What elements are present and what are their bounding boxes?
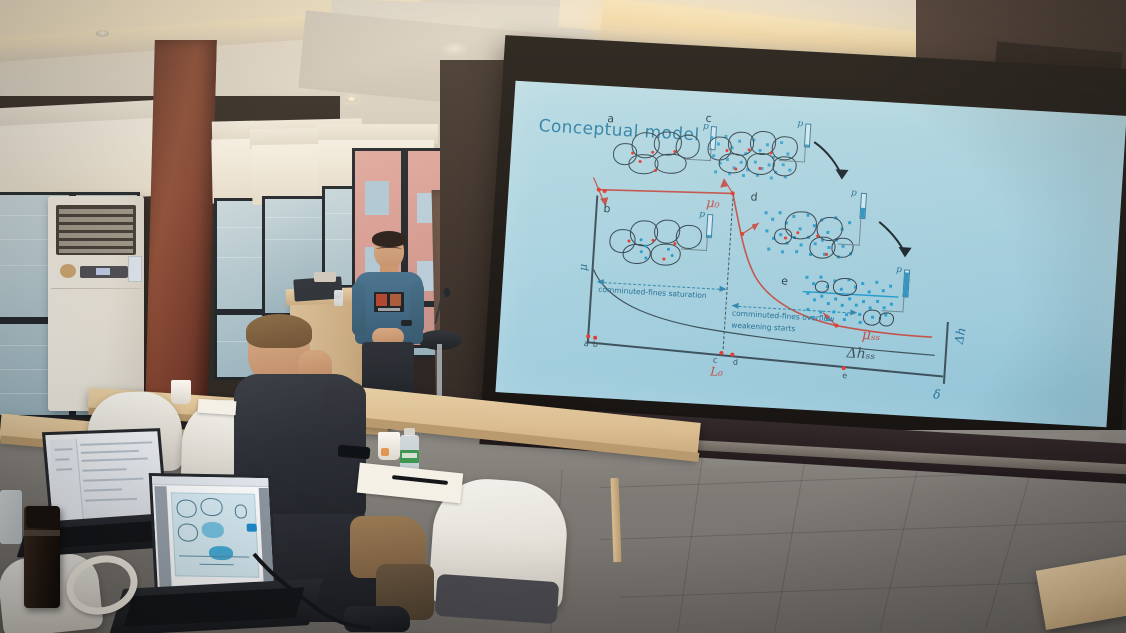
coffee-cup [378, 432, 400, 460]
ceiling-vent-icon [441, 43, 471, 58]
thermos [24, 506, 60, 608]
chair-right-shadow [435, 574, 560, 624]
air-conditioner [48, 196, 144, 411]
paper-sheet [198, 399, 237, 416]
glasses-icon [376, 247, 402, 253]
cable [250, 548, 400, 633]
coffee-cup [171, 380, 191, 404]
cup-left-edge [0, 490, 22, 544]
presenter-hair [372, 231, 406, 247]
ac-display [80, 266, 128, 278]
attendee-hair [246, 314, 312, 348]
microphone-icon [444, 288, 450, 297]
paper-on-lectern [314, 272, 336, 282]
wall-pillar-left [145, 40, 217, 410]
lectern-bottle [334, 290, 343, 306]
conference-room-photo: Conceptual model μ Δh δ [0, 0, 1126, 633]
ceiling-spot-icon [345, 96, 358, 103]
water-bottle [400, 428, 419, 472]
flow-arrows [495, 81, 1126, 428]
bar-stool-post [437, 344, 442, 400]
shirt-graphic [374, 292, 404, 312]
ac-logo-icon [60, 264, 76, 278]
projection-screen[interactable]: Conceptual model μ Δh δ [495, 81, 1126, 428]
ceiling-spot-icon [96, 30, 109, 37]
